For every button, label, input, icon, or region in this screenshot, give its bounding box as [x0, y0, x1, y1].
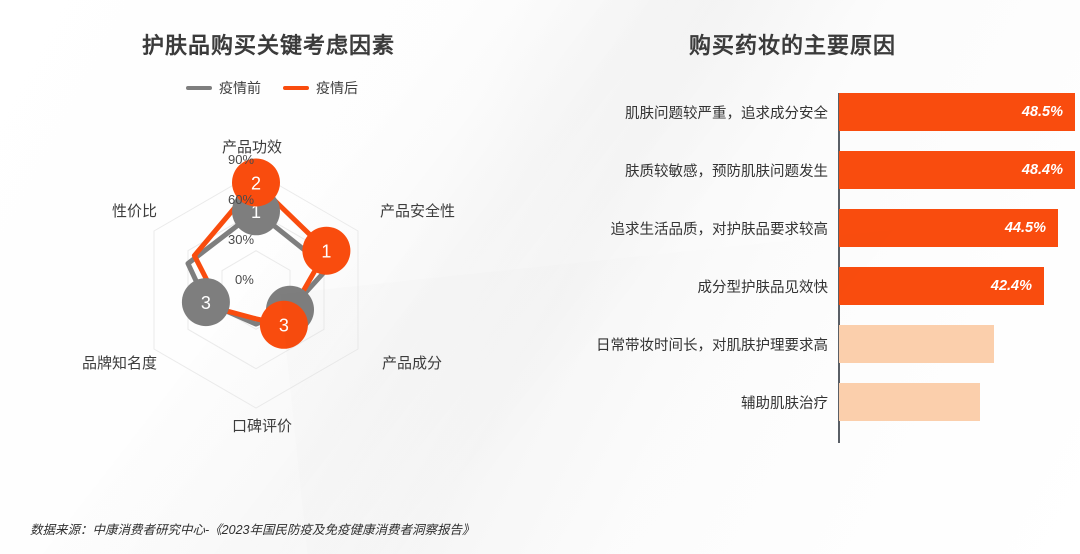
left-chart-title: 护肤品购买关键考虑因素	[142, 28, 395, 60]
bar-row: 追求生活品质，对护肤品要求较高 44.5%	[560, 209, 1080, 247]
radar-tick-0: 0%	[235, 272, 254, 287]
bar-category-label: 肤质较敏感，预防肌肤问题发生	[625, 151, 828, 189]
bar-track	[839, 383, 980, 421]
bar-fill	[839, 325, 994, 363]
bar-value-label: 44.5%	[1005, 220, 1058, 236]
bar-track: 48.5%	[839, 93, 1075, 131]
bar-row: 成分型护肤品见效快 42.4%	[560, 267, 1080, 305]
bar-track: 42.4%	[839, 267, 1044, 305]
bar-value-label: 48.5%	[1022, 104, 1075, 120]
slide-canvas: 护肤品购买关键考虑因素 疫情前 疫情后 1	[0, 0, 1080, 554]
bar-track	[839, 325, 994, 363]
data-source-note: 数据来源：中康消费者研究中心-《2023年国民防疫及免疫健康消费者洞察报告》	[30, 519, 474, 538]
legend-item-post-pandemic: 疫情后	[283, 78, 358, 98]
bar-track: 48.4%	[839, 151, 1075, 189]
right-chart-title: 购买药妆的主要原因	[689, 28, 896, 60]
radar-axis-label-safety: 产品安全性	[380, 200, 455, 221]
bar-row: 肌肤问题较严重，追求成分安全 48.5%	[560, 93, 1080, 131]
bar-fill: 48.5%	[839, 93, 1075, 131]
bar-fill	[839, 383, 980, 421]
bar-category-label: 追求生活品质，对护肤品要求较高	[611, 209, 829, 247]
bar-category-label: 日常带妆时间长，对肌肤护理要求高	[596, 325, 828, 363]
bar-category-label: 肌肤问题较严重，追求成分安全	[625, 93, 828, 131]
radar-marker-label: 2	[251, 173, 261, 193]
bar-row: 辅助肌肤治疗	[560, 383, 1080, 421]
legend-label: 疫情后	[316, 78, 358, 98]
bar-row: 肤质较敏感，预防肌肤问题发生 48.4%	[560, 151, 1080, 189]
radar-chart: 1 2 3 2 1 3 90% 60% 30% 0% 产品功效 产品安全性	[60, 130, 500, 450]
radar-tick-60: 60%	[228, 192, 254, 207]
radar-tick-30: 30%	[228, 232, 254, 247]
radar-marker-label: 3	[201, 293, 211, 313]
bar-category-label: 辅助肌肤治疗	[741, 383, 828, 421]
bar-category-label: 成分型护肤品见效快	[698, 267, 829, 305]
legend-item-pre-pandemic: 疫情前	[186, 78, 261, 98]
radar-plot-svg: 1 2 3 2 1 3	[60, 130, 500, 450]
bar-fill: 48.4%	[839, 151, 1075, 189]
bar-fill: 42.4%	[839, 267, 1044, 305]
line-swatch-icon	[186, 86, 212, 90]
bar-fill: 44.5%	[839, 209, 1058, 247]
legend-label: 疫情前	[219, 78, 261, 98]
radar-legend: 疫情前 疫情后	[186, 78, 358, 98]
line-swatch-icon	[283, 86, 309, 90]
bar-chart: 肌肤问题较严重，追求成分安全 48.5% 肤质较敏感，预防肌肤问题发生 48.4…	[560, 88, 1080, 444]
radar-axis-label-value-for-money: 性价比	[112, 200, 157, 221]
radar-marker-label: 1	[321, 242, 331, 262]
bar-row: 日常带妆时间长，对肌肤护理要求高	[560, 325, 1080, 363]
radar-axis-label-brand-awareness: 品牌知名度	[82, 352, 157, 373]
radar-axis-label-ingredients: 产品成分	[382, 352, 442, 373]
radar-axis-label-reputation: 口碑评价	[232, 415, 292, 436]
radar-marker-label: 3	[279, 316, 289, 336]
radar-axis-label-efficacy: 产品功效	[222, 136, 282, 157]
bar-value-label: 48.4%	[1022, 162, 1075, 178]
bar-track: 44.5%	[839, 209, 1058, 247]
bar-value-label: 42.4%	[991, 278, 1044, 294]
